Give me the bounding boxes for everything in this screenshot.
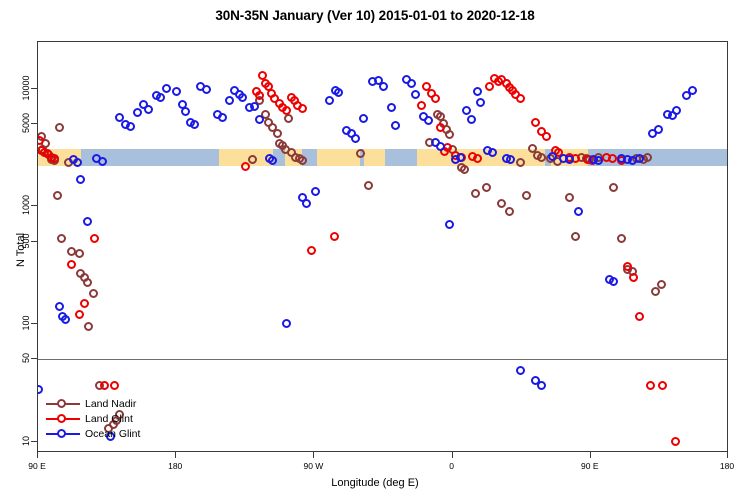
x-axis-title: Longitude (deg E): [0, 477, 750, 489]
data-point: [255, 115, 264, 124]
y-tick-label: 500: [21, 233, 31, 248]
data-point: [688, 86, 697, 95]
data-point: [325, 96, 334, 105]
legend-item-land-nadir[interactable]: Land Nadir: [46, 396, 140, 411]
data-point: [657, 280, 666, 289]
x-tick-mark: [590, 452, 591, 458]
data-point: [436, 123, 445, 132]
data-point: [609, 277, 618, 286]
data-point: [542, 132, 551, 141]
data-point: [476, 98, 485, 107]
data-point: [53, 191, 62, 200]
data-point: [387, 103, 396, 112]
data-point: [67, 260, 76, 269]
data-point: [617, 234, 626, 243]
data-point: [84, 322, 93, 331]
data-point: [571, 232, 580, 241]
data-point: [537, 381, 546, 390]
x-tick-label: 180: [145, 461, 205, 471]
data-point: [57, 234, 66, 243]
y-tick-label: 50: [21, 353, 31, 363]
data-point: [456, 153, 465, 162]
data-point: [565, 193, 574, 202]
data-point: [284, 114, 293, 123]
chart-title: 30N-35N January (Ver 10) 2015-01-01 to 2…: [0, 8, 750, 23]
data-point: [298, 104, 307, 113]
data-point: [629, 273, 638, 282]
data-point: [608, 154, 617, 163]
data-point: [548, 152, 557, 161]
data-point: [37, 385, 43, 394]
data-point: [298, 156, 307, 165]
geo-land-segment: [364, 149, 385, 166]
data-point: [172, 87, 181, 96]
x-tick-label: 90 W: [283, 461, 343, 471]
data-point: [83, 217, 92, 226]
chart-legend: Land NadirLand GlintOcean Glint: [46, 396, 140, 441]
x-tick-mark: [452, 452, 453, 458]
data-point: [473, 154, 482, 163]
data-point: [144, 105, 153, 114]
legend-label: Ocean Glint: [85, 428, 140, 440]
data-point: [55, 123, 64, 132]
data-point: [516, 158, 525, 167]
data-point: [407, 79, 416, 88]
data-point: [671, 437, 680, 446]
legend-label: Land Glint: [85, 413, 133, 425]
data-point: [156, 93, 165, 102]
data-point: [497, 199, 506, 208]
data-point: [516, 366, 525, 375]
data-point: [646, 381, 655, 390]
data-point: [379, 82, 388, 91]
data-point: [100, 381, 109, 390]
data-point: [431, 94, 440, 103]
data-point: [241, 162, 250, 171]
y-tick-label: 5000: [21, 113, 31, 133]
data-point: [460, 165, 469, 174]
data-point: [391, 121, 400, 130]
y-tick-label: 100: [21, 315, 31, 330]
x-tick-mark: [313, 452, 314, 458]
data-point: [75, 249, 84, 258]
legend-marker-icon: [46, 398, 80, 409]
y-tick-label: 10000: [21, 75, 31, 100]
data-point: [359, 114, 368, 123]
data-point: [75, 310, 84, 319]
data-point: [445, 220, 454, 229]
data-point: [467, 115, 476, 124]
data-point: [488, 148, 497, 157]
reference-line: [38, 359, 727, 360]
data-point: [473, 87, 482, 96]
data-point: [436, 142, 445, 151]
data-point: [330, 232, 339, 241]
data-point: [654, 125, 663, 134]
data-point: [76, 175, 85, 184]
legend-marker-icon: [46, 413, 80, 424]
y-tick-label: 1000: [21, 195, 31, 215]
data-point: [635, 312, 644, 321]
y-tick-label: 10: [21, 436, 31, 446]
x-tick-mark: [727, 452, 728, 458]
data-point: [609, 183, 618, 192]
data-point: [90, 234, 99, 243]
geo-land-segment: [317, 149, 360, 166]
data-point: [311, 187, 320, 196]
data-point: [202, 85, 211, 94]
data-point: [225, 96, 234, 105]
data-point: [190, 120, 199, 129]
data-point: [61, 315, 70, 324]
data-point: [162, 84, 171, 93]
data-point: [445, 130, 454, 139]
data-point: [424, 116, 433, 125]
data-point: [411, 90, 420, 99]
data-point: [302, 199, 311, 208]
data-point: [83, 278, 92, 287]
data-point: [273, 129, 282, 138]
data-point: [471, 189, 480, 198]
data-point: [574, 207, 583, 216]
chart-root: 30N-35N January (Ver 10) 2015-01-01 to 2…: [0, 0, 750, 500]
data-point: [522, 191, 531, 200]
legend-marker-icon: [46, 428, 80, 439]
data-point: [110, 381, 119, 390]
data-point: [565, 155, 574, 164]
data-point: [516, 94, 525, 103]
legend-label: Land Nadir: [85, 398, 136, 410]
data-point: [80, 299, 89, 308]
data-point: [55, 302, 64, 311]
data-point: [505, 207, 514, 216]
data-point: [417, 101, 426, 110]
x-tick-label: 90 E: [560, 461, 620, 471]
data-point: [351, 134, 360, 143]
data-point: [126, 122, 135, 131]
data-point: [672, 106, 681, 115]
data-point: [238, 93, 247, 102]
x-tick-label: 90 E: [7, 461, 67, 471]
data-point: [485, 82, 494, 91]
data-point: [250, 102, 259, 111]
x-tick-label: 0: [422, 461, 482, 471]
plot-area: [37, 41, 728, 452]
data-point: [218, 113, 227, 122]
data-point: [89, 289, 98, 298]
data-point: [531, 118, 540, 127]
data-point: [334, 88, 343, 97]
x-tick-label: 180: [697, 461, 750, 471]
data-point: [133, 108, 142, 117]
x-tick-mark: [37, 452, 38, 458]
x-tick-mark: [175, 452, 176, 458]
data-point: [181, 107, 190, 116]
data-point: [364, 181, 373, 190]
data-point: [462, 106, 471, 115]
data-point: [623, 262, 632, 271]
data-point: [307, 246, 316, 255]
data-point: [282, 319, 291, 328]
legend-item-ocean-glint[interactable]: Ocean Glint: [46, 426, 140, 441]
legend-item-land-glint[interactable]: Land Glint: [46, 411, 140, 426]
data-point: [658, 381, 667, 390]
data-point: [482, 183, 491, 192]
data-point: [255, 91, 264, 100]
